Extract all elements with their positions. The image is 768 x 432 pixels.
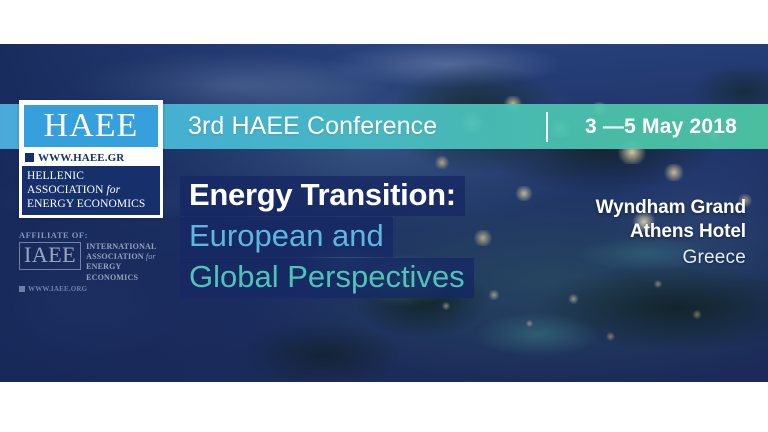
venue-line2: Athens Hotel bbox=[596, 220, 746, 244]
square-bullet-icon bbox=[25, 153, 34, 162]
iaee-affiliate-logo[interactable]: AFFILIATE OF: IAEE INTERNATIONAL ASSOCIA… bbox=[19, 230, 169, 293]
iaee-website-text: WWW.IAEE.ORG bbox=[28, 285, 87, 293]
header-divider bbox=[546, 112, 548, 142]
venue-line3: Greece bbox=[596, 245, 746, 272]
iaee-subtitle-line2: ASSOCIATION for bbox=[86, 252, 169, 262]
conference-title: 3rd HAEE Conference bbox=[188, 112, 437, 141]
iaee-subtitle-line2-main: ASSOCIATION bbox=[86, 252, 144, 261]
iaee-subtitle-line1: INTERNATIONAL bbox=[86, 242, 169, 252]
iaee-wordmark-text: IAEE bbox=[24, 242, 76, 267]
haee-wordmark-text: HAEE bbox=[44, 109, 139, 143]
headline-line3: Global Perspectives bbox=[189, 259, 465, 294]
square-bullet-icon bbox=[19, 286, 25, 292]
haee-subtitle-line2: ASSOCIATION for bbox=[27, 183, 156, 197]
iaee-wordmark: IAEE bbox=[19, 242, 81, 270]
venue-block: Wyndham Grand Athens Hotel Greece bbox=[596, 196, 746, 271]
iaee-website-row: WWW.IAEE.ORG bbox=[19, 285, 169, 293]
headline: Energy Transition: European and Global P… bbox=[180, 176, 474, 299]
haee-subtitle-line1: HELLENIC bbox=[27, 169, 156, 183]
venue-line1: Wyndham Grand bbox=[596, 196, 746, 220]
conference-banner: 3rd HAEE Conference 3 —5 May 2018 HAEE W… bbox=[0, 44, 768, 382]
headline-line1-wrap: Energy Transition: bbox=[180, 176, 465, 216]
haee-subtitle-block: HELLENIC ASSOCIATION for ENERGY ECONOMIC… bbox=[22, 166, 160, 215]
headline-line2-wrap: European and bbox=[180, 217, 393, 257]
iaee-affiliate-label: AFFILIATE OF: bbox=[19, 230, 169, 240]
haee-logo[interactable]: HAEE WWW.HAEE.GR HELLENIC ASSOCIATION fo… bbox=[19, 100, 163, 218]
haee-subtitle-line2-for: for bbox=[106, 184, 120, 196]
conference-dates: 3 —5 May 2018 bbox=[585, 115, 737, 139]
iaee-subtitle-line2-for: for bbox=[146, 252, 156, 261]
iaee-row: IAEE INTERNATIONAL ASSOCIATION for ENERG… bbox=[19, 242, 169, 283]
iaee-subtitle-block: INTERNATIONAL ASSOCIATION for ENERGY ECO… bbox=[86, 242, 169, 283]
iaee-subtitle-line3: ENERGY ECONOMICS bbox=[86, 262, 169, 282]
headline-line1: Energy Transition: bbox=[189, 177, 456, 212]
haee-wordmark: HAEE bbox=[22, 103, 160, 149]
haee-subtitle-line3: ENERGY ECONOMICS bbox=[27, 197, 156, 211]
haee-subtitle-line2-main: ASSOCIATION bbox=[27, 184, 104, 196]
headline-line2: European and bbox=[189, 218, 384, 253]
haee-website-row: WWW.HAEE.GR bbox=[22, 149, 160, 166]
haee-website-text: WWW.HAEE.GR bbox=[38, 152, 124, 164]
headline-line3-wrap: Global Perspectives bbox=[180, 258, 474, 298]
